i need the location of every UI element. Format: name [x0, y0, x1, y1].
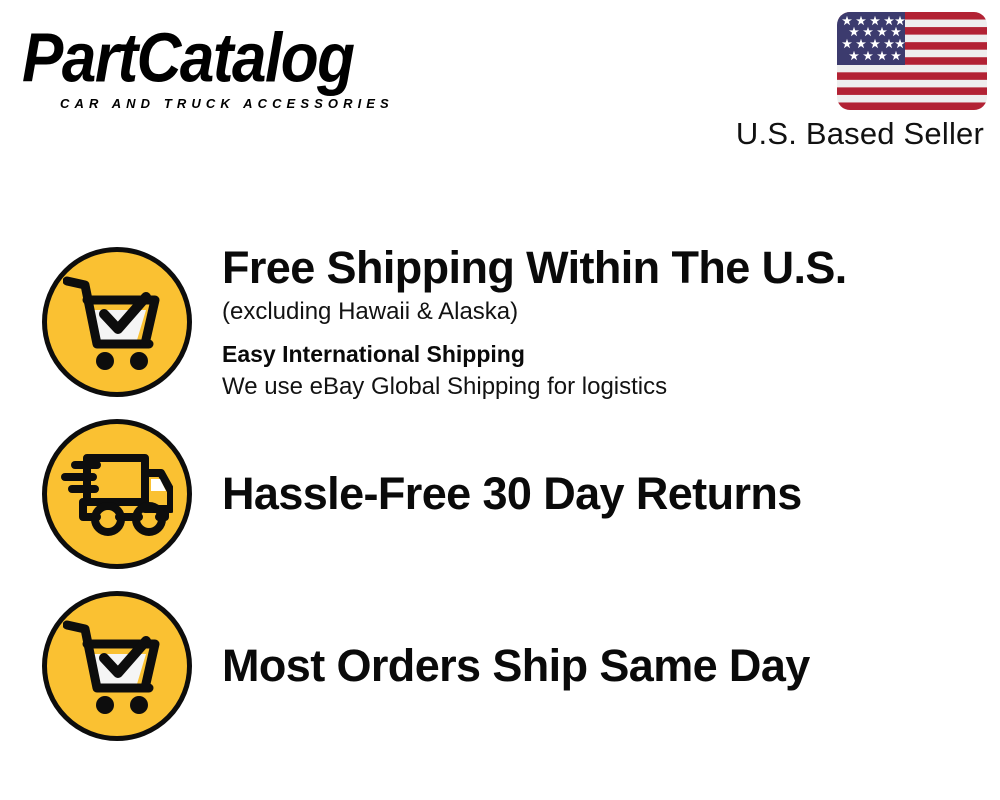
feature-row: Free Shipping Within The U.S. (excluding…	[0, 247, 1000, 397]
delivery-truck-icon	[42, 419, 192, 569]
feature-list: Free Shipping Within The U.S. (excluding…	[0, 175, 1000, 800]
feature-subtext: (excluding Hawaii & Alaska)	[222, 296, 980, 328]
cart-check-glyph	[63, 616, 171, 716]
feature-row: Most Orders Ship Same Day	[0, 591, 1000, 741]
us-flag-svg	[837, 12, 987, 110]
feature-row: Hassle-Free 30 Day Returns	[0, 419, 1000, 569]
shopping-cart-check-icon	[42, 247, 192, 397]
us-based-seller-label: U.S. Based Seller	[736, 116, 984, 152]
feature-note: We use eBay Global Shipping for logistic…	[222, 371, 980, 403]
feature-bold-line: Easy International Shipping	[222, 338, 980, 370]
brand-wordmark: PartCatalog	[22, 22, 492, 96]
brand-tagline: CAR AND TRUCK ACCESSORIES	[60, 96, 394, 111]
feature-heading: Hassle-Free 30 Day Returns	[222, 468, 980, 520]
brand-logo: PartCatalog CAR AND TRUCK ACCESSORIES	[22, 22, 492, 112]
feature-text-block: Most Orders Ship Same Day	[222, 640, 1000, 692]
shopping-cart-check-icon	[42, 591, 192, 741]
banner-header: PartCatalog CAR AND TRUCK ACCESSORIES	[0, 0, 1000, 175]
delivery-truck-glyph	[61, 451, 173, 537]
feature-heading: Most Orders Ship Same Day	[222, 640, 980, 692]
feature-text-block: Free Shipping Within The U.S. (excluding…	[222, 242, 1000, 403]
cart-check-glyph	[63, 272, 171, 372]
us-flag-icon	[837, 12, 987, 110]
feature-text-block: Hassle-Free 30 Day Returns	[222, 468, 1000, 520]
feature-heading: Free Shipping Within The U.S.	[222, 242, 980, 294]
promo-banner: PartCatalog CAR AND TRUCK ACCESSORIES	[0, 0, 1000, 800]
